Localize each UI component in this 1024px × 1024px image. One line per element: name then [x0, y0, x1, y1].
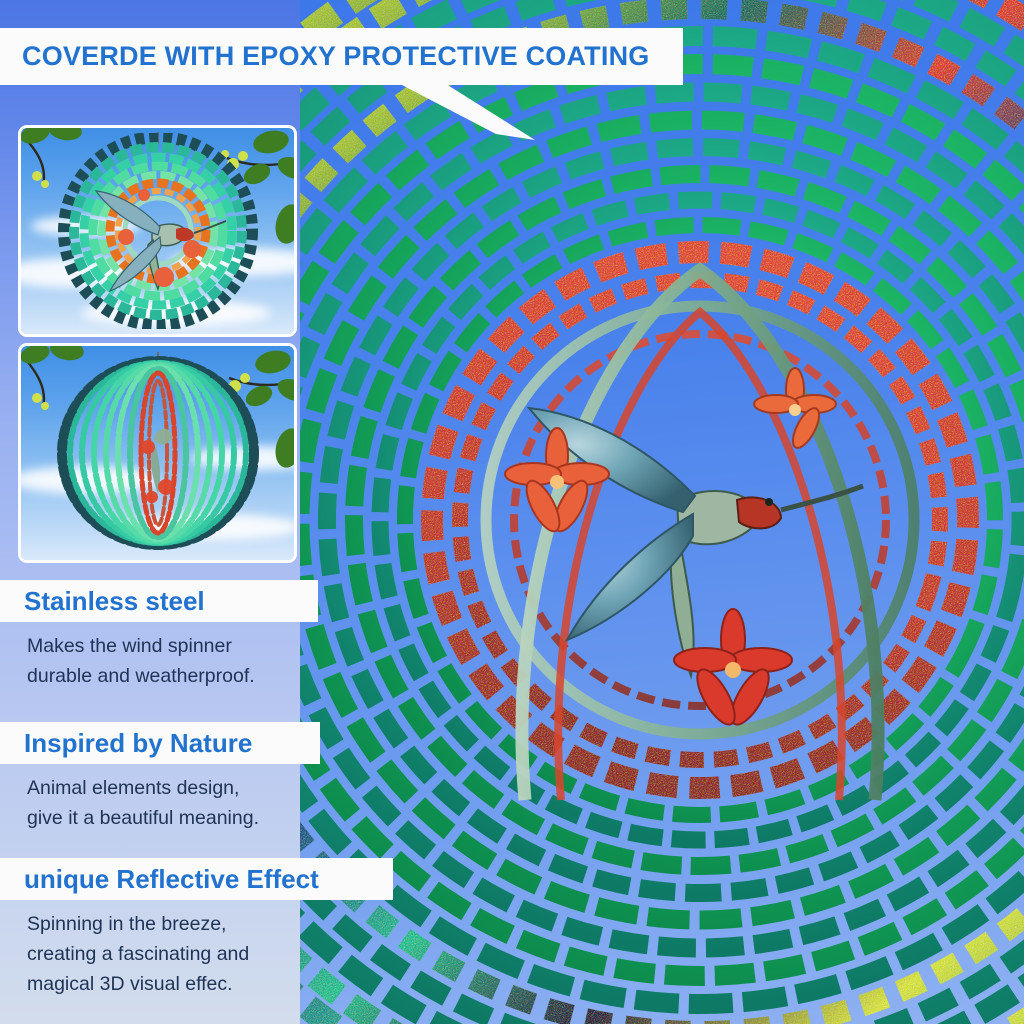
feature-heading: unique Reflective Effect [24, 864, 319, 895]
inset-photo-front-view[interactable] [18, 125, 297, 337]
inset-photo-angled-view[interactable] [18, 343, 297, 563]
callout-banner: COVERDE WITH EPOXY PROTECTIVE COATING [0, 28, 683, 85]
feature-unique-reflective-effect: unique Reflective Effect Spinning in the… [0, 858, 393, 999]
feature-heading: Inspired by Nature [24, 728, 252, 759]
feature-body-line: Animal elements design, [27, 773, 320, 803]
feature-body-line: durable and weatherproof. [27, 661, 318, 691]
feature-body-line: creating a fascinating and [27, 939, 393, 969]
feature-body-line: Spinning in the breeze, [27, 909, 393, 939]
mini-spinner-front-icon [53, 133, 263, 329]
feature-body: Spinning in the breeze, creating a fasci… [27, 909, 393, 999]
mini-spinner-angled-icon [51, 353, 265, 553]
main-product-photo [300, 0, 1024, 1024]
callout-banner-text: COVERDE WITH EPOXY PROTECTIVE COATING [22, 41, 649, 72]
callout-pointer-icon [400, 84, 535, 140]
feature-body-line: give it a beautiful meaning. [27, 803, 320, 833]
feature-body-line: magical 3D visual effec. [27, 969, 393, 999]
feature-body: Makes the wind spinner durable and weath… [27, 631, 318, 691]
feature-heading: Stainless steel [24, 586, 205, 617]
hummingbird-icon [465, 200, 935, 840]
feature-inspired-by-nature: Inspired by Nature Animal elements desig… [0, 722, 320, 833]
feature-body: Animal elements design, give it a beauti… [27, 773, 320, 833]
feature-stainless-steel: Stainless steel Makes the wind spinner d… [0, 580, 318, 691]
wind-spinner-graphic [300, 0, 1024, 1024]
infographic-root: COVERDE WITH EPOXY PROTECTIVE COATING [0, 0, 1024, 1024]
feature-heading-bar: unique Reflective Effect [0, 858, 393, 900]
feature-heading-bar: Inspired by Nature [0, 722, 320, 764]
feature-body-line: Makes the wind spinner [27, 631, 318, 661]
feature-heading-bar: Stainless steel [0, 580, 318, 622]
hummingbird-medallion [465, 200, 935, 840]
